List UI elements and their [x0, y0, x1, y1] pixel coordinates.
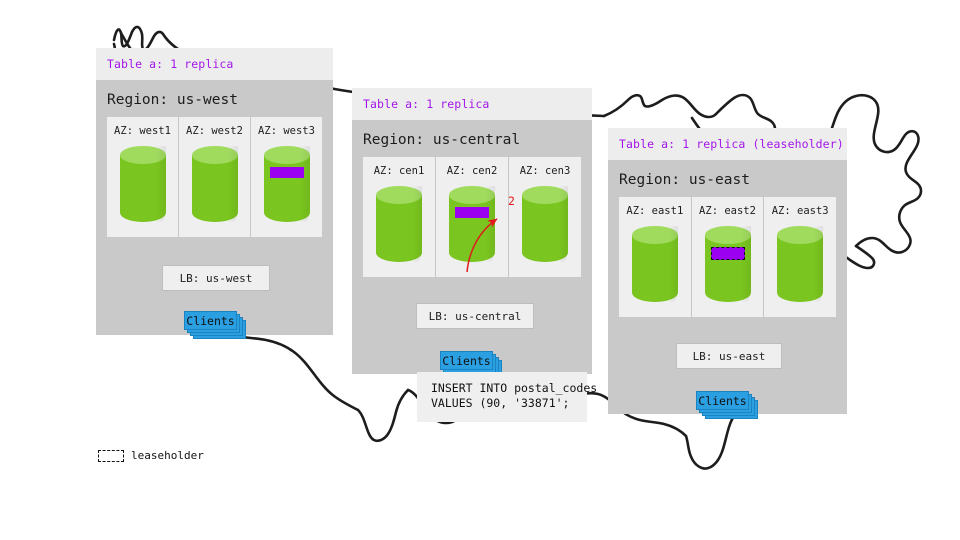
az-card-cen1[interactable]: AZ: cen1 [363, 157, 435, 277]
region-title: Region: us-central [352, 120, 592, 157]
az-label: AZ: east3 [764, 205, 836, 217]
dashed-rectangle-icon [98, 450, 124, 462]
load-balancer-us-east[interactable]: LB: us-east [676, 343, 782, 369]
sql-statement-note: INSERT INTO postal_codes VALUES (90, '33… [417, 372, 587, 422]
clients-stack-us-west[interactable]: Clients [184, 311, 246, 339]
node-cylinder-icon [376, 186, 422, 262]
region-header-label: Table a: 1 replica [96, 48, 333, 80]
load-balancer-us-central[interactable]: LB: us-central [416, 303, 534, 329]
region-title: Region: us-west [96, 80, 333, 117]
az-container: AZ: west1 AZ: west2 AZ [107, 117, 322, 237]
az-label: AZ: west1 [107, 125, 178, 137]
az-card-east2[interactable]: AZ: east2 [691, 197, 764, 317]
az-card-west2[interactable]: AZ: west2 [178, 117, 250, 237]
az-card-cen2[interactable]: AZ: cen2 [435, 157, 508, 277]
region-header-label: Table a: 1 replica [352, 88, 592, 120]
node-cylinder-icon [449, 186, 495, 262]
region-panel-us-east[interactable]: Table a: 1 replica (leaseholder) Region:… [608, 128, 847, 414]
replica-marker [270, 167, 304, 178]
node-cylinder-icon [120, 146, 166, 222]
az-container: AZ: cen1 AZ: cen2 [363, 157, 581, 277]
az-label: AZ: west2 [179, 125, 250, 137]
legend-label: leaseholder [131, 449, 204, 462]
replica-marker [455, 207, 489, 218]
legend: leaseholder [98, 449, 204, 462]
node-cylinder-icon [777, 226, 823, 302]
load-balancer-us-west[interactable]: LB: us-west [162, 265, 270, 291]
region-panel-us-central[interactable]: Table a: 1 replica Region: us-central AZ… [352, 88, 592, 374]
replica-marker-leaseholder [711, 247, 745, 260]
node-cylinder-icon [522, 186, 568, 262]
arrow-step-label: 2 [508, 194, 515, 208]
az-card-east3[interactable]: AZ: east3 [763, 197, 836, 317]
az-label: AZ: east2 [692, 205, 764, 217]
load-balancer-label: LB: us-west [180, 272, 253, 285]
region-title: Region: us-east [608, 160, 847, 197]
az-label: AZ: east1 [619, 205, 691, 217]
az-container: AZ: east1 AZ: east2 [619, 197, 836, 317]
az-label: AZ: cen2 [436, 165, 508, 177]
az-label: AZ: cen1 [363, 165, 435, 177]
az-card-west1[interactable]: AZ: west1 [107, 117, 178, 237]
clients-label: Clients [184, 311, 237, 330]
load-balancer-label: LB: us-east [693, 350, 766, 363]
clients-stack-us-east[interactable]: Clients [696, 391, 758, 419]
node-cylinder-icon [632, 226, 678, 302]
az-card-cen3[interactable]: AZ: cen3 [508, 157, 581, 277]
node-cylinder-icon [705, 226, 751, 302]
clients-label: Clients [696, 391, 749, 410]
node-cylinder-icon [264, 146, 310, 222]
az-card-west3[interactable]: AZ: west3 [250, 117, 322, 237]
az-label: AZ: west3 [251, 125, 322, 137]
region-header-label: Table a: 1 replica (leaseholder) [608, 128, 847, 160]
load-balancer-label: LB: us-central [429, 310, 522, 323]
az-card-east1[interactable]: AZ: east1 [619, 197, 691, 317]
node-cylinder-icon [192, 146, 238, 222]
az-label: AZ: cen3 [509, 165, 581, 177]
region-panel-us-west[interactable]: Table a: 1 replica Region: us-west AZ: w… [96, 48, 333, 335]
clients-label: Clients [440, 351, 493, 370]
diagram-canvas: Table a: 1 replica Region: us-west AZ: w… [0, 0, 960, 540]
